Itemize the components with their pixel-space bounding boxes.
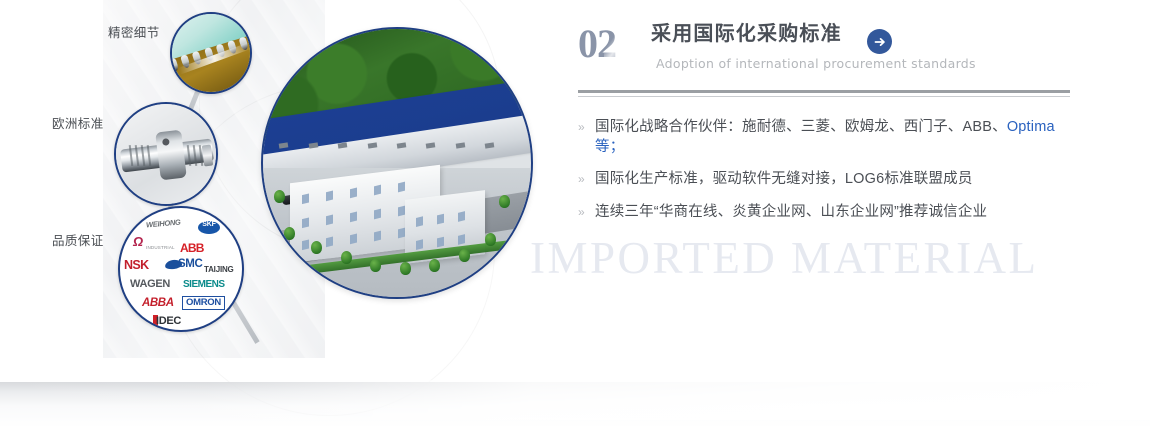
list-item-text: 连续三年“华商在线、炎黄企业网、山东企业网”推荐诚信企业	[595, 203, 987, 223]
list-item-text-main: 国际化战略合作伙伴：施耐德、三菱、欧姆龙、西门子、ABB、	[595, 119, 1007, 135]
brand-logo-abba: ABBA	[142, 298, 174, 310]
arrow-right-circle-icon[interactable]	[867, 29, 892, 54]
factory-aerial-photo	[261, 27, 533, 299]
brand-logo-idec: IDEC	[156, 316, 181, 327]
list-item-text: 国际化生产标准，驱动软件无缝对接，LOG6标准联盟成员	[595, 170, 973, 190]
brand-logo-taijing: TAIJING	[204, 266, 234, 274]
brand-logo-siemens: SIEMENS	[183, 280, 225, 290]
list-item: » 连续三年“华商在线、炎黄企业网、山东企业网”推荐诚信企业	[578, 203, 1078, 223]
section-header: 02 采用国际化采购标准 Adoption of international p…	[578, 22, 1078, 86]
list-item-text-main: 连续三年“华商在线、炎黄企业网、山东企业网”推荐诚信企业	[595, 204, 987, 220]
feature-label-european: 欧洲标准	[52, 113, 104, 132]
brand-logo-omega-sub: INDUSTRIAL	[146, 246, 175, 251]
page-title: 采用国际化采购标准	[651, 22, 842, 47]
list-item: » 国际化战略合作伙伴：施耐德、三菱、欧姆龙、西门子、ABB、Optima等；	[578, 118, 1078, 157]
brand-logo-omron: OMRON	[182, 296, 225, 310]
divider-thick	[578, 90, 1070, 93]
list-item: » 国际化生产标准，驱动软件无缝对接，LOG6标准联盟成员	[578, 170, 1078, 190]
feature-label-precision: 精密细节	[108, 22, 160, 41]
chevron-double-right-icon: »	[578, 173, 595, 185]
content-column: 02 采用国际化采购标准 Adoption of international p…	[578, 22, 1078, 86]
page-subtitle: Adoption of international procurement st…	[656, 56, 976, 71]
brand-logo-omega: Ω	[133, 235, 143, 248]
factory-art	[263, 29, 531, 297]
brand-logo-nsk: NSK	[124, 259, 149, 272]
chevron-double-right-icon: »	[578, 121, 595, 133]
feature-list: » 国际化战略合作伙伴：施耐德、三菱、欧姆龙、西门子、ABB、Optima等； …	[578, 118, 1078, 235]
bottom-sheen	[0, 380, 1150, 420]
brand-logo-smc: SMC	[178, 259, 202, 271]
divider-thin	[578, 96, 1070, 97]
bottom-gradient-band	[0, 382, 1150, 430]
brand-logo-weihong: WEIHONG	[146, 219, 181, 229]
brand-logo-cloud: WEIHONG SKF Ω INDUSTRIAL ABB NSK SMC TAI…	[120, 208, 242, 330]
section-number: 02	[578, 24, 616, 64]
gear-teeth-macro-art	[172, 14, 250, 92]
ball-screw-art	[116, 104, 216, 204]
brand-logo-abb: ABB	[180, 242, 204, 254]
quality-brands-photo: WEIHONG SKF Ω INDUSTRIAL ABB NSK SMC TAI…	[118, 206, 244, 332]
brand-logo-skf: SKF	[198, 221, 220, 234]
promo-banner: WEIHONG SKF Ω INDUSTRIAL ABB NSK SMC TAI…	[0, 0, 1150, 430]
feature-label-quality: 品质保证	[52, 230, 104, 249]
watermark-text: IMPORTED MATERIAL	[530, 236, 1039, 281]
european-standard-photo	[114, 102, 218, 206]
chevron-double-right-icon: »	[578, 206, 595, 218]
brand-logo-wagen: WAGEN	[130, 279, 170, 290]
precision-detail-photo	[170, 12, 252, 94]
list-item-text: 国际化战略合作伙伴：施耐德、三菱、欧姆龙、西门子、ABB、Optima等；	[595, 118, 1078, 157]
list-item-text-main: 国际化生产标准，驱动软件无缝对接，LOG6标准联盟成员	[595, 171, 973, 187]
